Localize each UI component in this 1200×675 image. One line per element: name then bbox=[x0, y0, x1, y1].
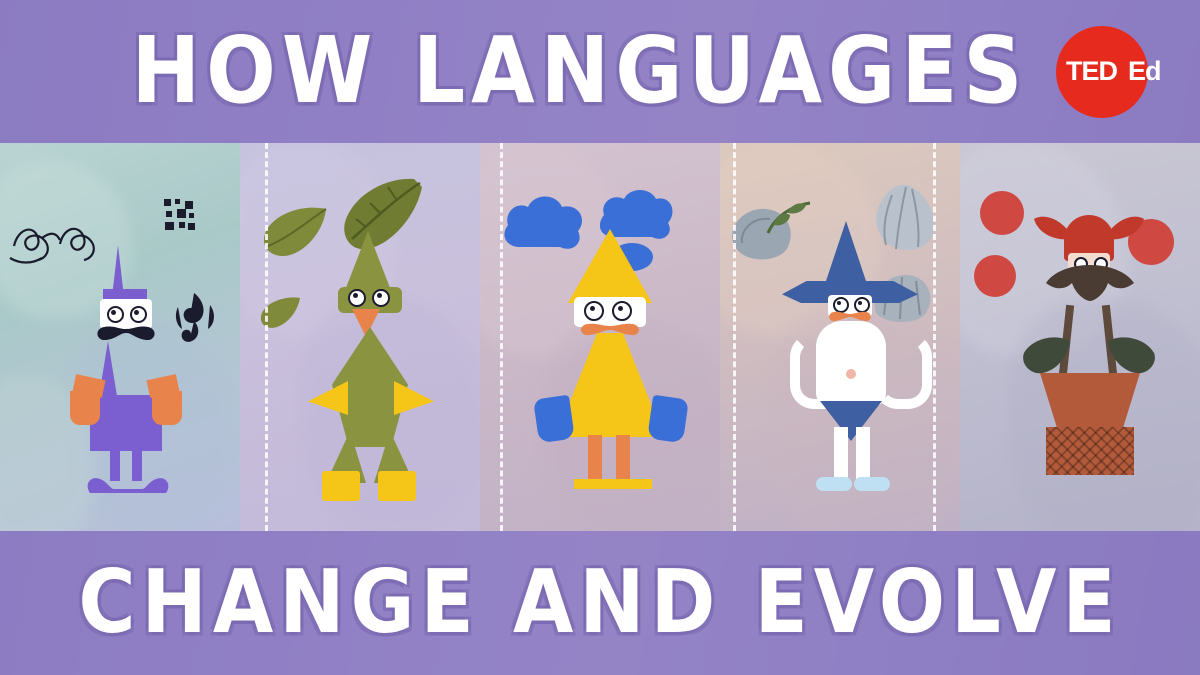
panel-divider-2 bbox=[500, 143, 503, 531]
leaf-hand-left-icon bbox=[1020, 333, 1072, 379]
ed-wordmark: Ed bbox=[1128, 56, 1161, 87]
figure-ornate-calligraphy bbox=[76, 245, 216, 495]
ted-wordmark: TED bbox=[1066, 56, 1117, 87]
horn-right-icon bbox=[1106, 209, 1146, 243]
beard-icon bbox=[1044, 265, 1136, 313]
figure-seashell-bather bbox=[776, 221, 926, 501]
geometric-ornament-top bbox=[160, 195, 200, 235]
title-band-top: HOW LANGUAGES bbox=[0, 0, 1200, 143]
panel-divider-4 bbox=[933, 143, 936, 531]
title-line-2: CHANGE AND EVOLVE bbox=[78, 559, 1121, 646]
figure-potted-viking bbox=[1006, 205, 1170, 495]
figure-cloud-thinker bbox=[530, 229, 690, 495]
title-line-1: HOW LANGUAGES bbox=[132, 26, 1069, 118]
curled-shoes-icon bbox=[84, 469, 172, 497]
figure-leaf-nature bbox=[302, 231, 442, 501]
horn-left-icon bbox=[1032, 209, 1072, 243]
illustration-panels bbox=[0, 143, 1200, 531]
leaf-hand-right-icon bbox=[1106, 333, 1158, 379]
panel-leaf-nature-figure bbox=[240, 143, 480, 531]
panel-divider-3 bbox=[733, 143, 736, 531]
panel-ornate-calligraphy-figure bbox=[0, 143, 240, 531]
ted-ed-logo[interactable]: TED Ed bbox=[1056, 26, 1178, 118]
panel-potted-viking-figure bbox=[960, 143, 1200, 531]
panel-divider-1 bbox=[265, 143, 268, 531]
video-thumbnail: HOW LANGUAGES CHANGE AND EVOLVE TED Ed bbox=[0, 0, 1200, 675]
panel-cloud-thinking-figure bbox=[480, 143, 720, 531]
panel-seashell-bather-figure bbox=[720, 143, 960, 531]
title-band-bottom: CHANGE AND EVOLVE bbox=[0, 531, 1200, 675]
